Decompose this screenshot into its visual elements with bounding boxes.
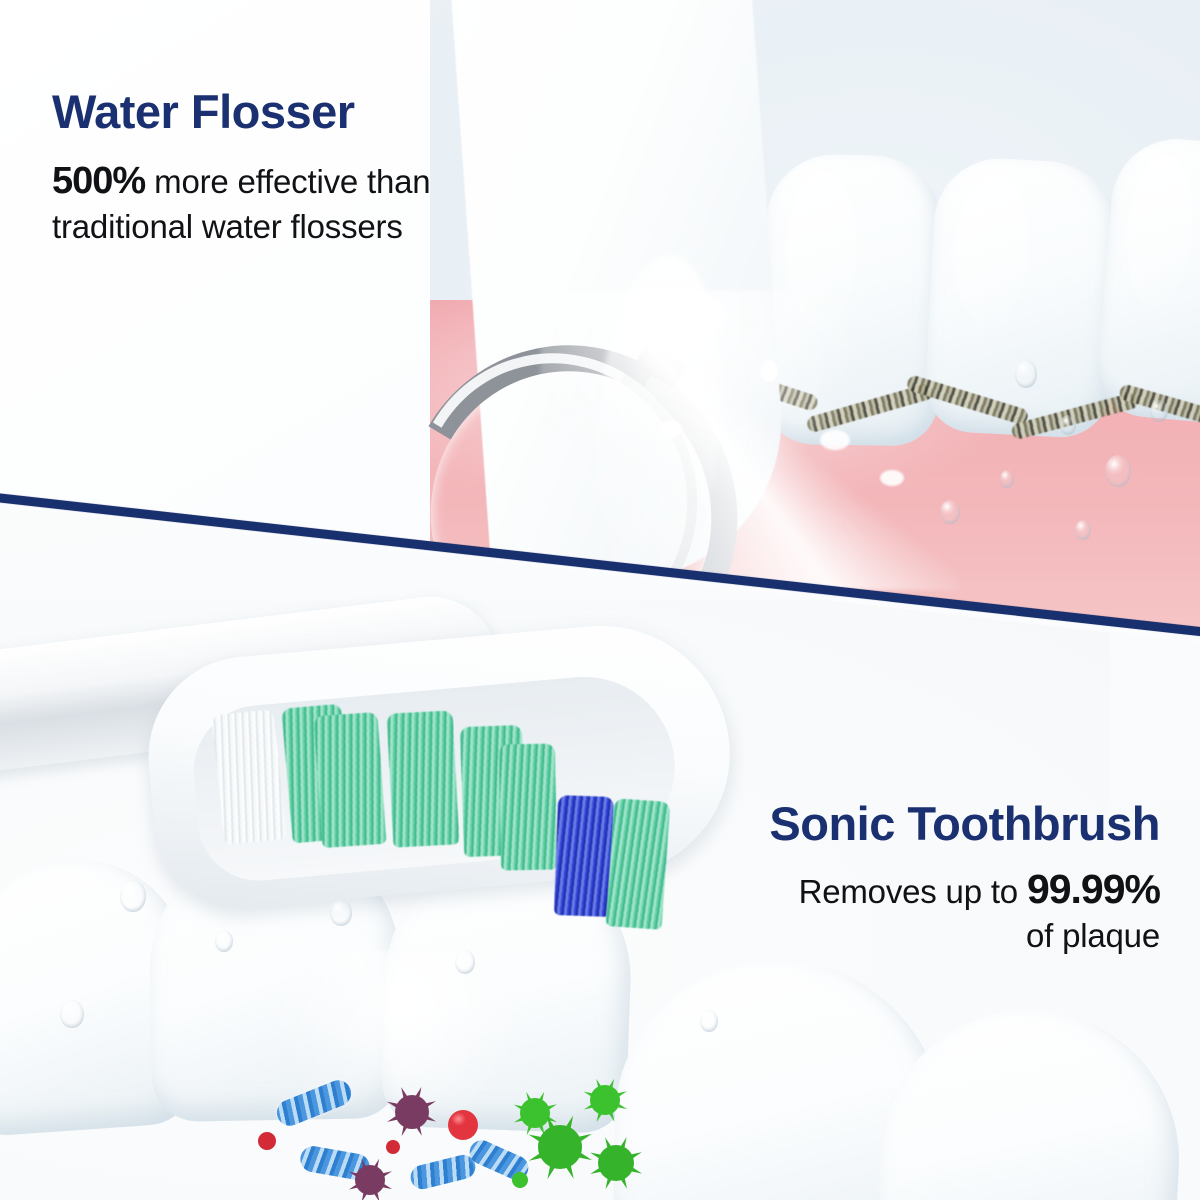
sonic-toothbrush-claim-prefix: Removes up to (799, 873, 1027, 910)
water-flosser-heading: Water Flosser (52, 88, 430, 135)
bacteria-spiky-green (520, 1098, 550, 1128)
bacteria-coccus-red (386, 1140, 400, 1154)
water-flosser-claim-rest: more effective than (145, 163, 430, 200)
bacteria-spiky-purple (355, 1165, 385, 1195)
sonic-toothbrush-text-block: Sonic Toothbrush Removes up to 99.99%of … (0, 800, 1160, 958)
toothpaste-foam-spray (250, 950, 580, 1200)
sonic-toothbrush-claim-line2: of plaque (0, 915, 1160, 957)
water-splash (660, 420, 682, 438)
water-flosser-claim-figure: 500% (52, 160, 145, 202)
bacteria-coccus-red (448, 1110, 478, 1140)
water-droplet (1075, 520, 1091, 540)
water-droplet (1150, 400, 1168, 422)
water-splash (880, 470, 904, 486)
bacteria-spiky-green (538, 1125, 582, 1169)
bacteria-spiky-green (598, 1145, 634, 1181)
sonic-toothbrush-claim: Removes up to 99.99%of plaque (0, 863, 1160, 958)
sonic-toothbrush-heading: Sonic Toothbrush (0, 800, 1160, 847)
infographic-canvas: Water Flosser 500% more effective thantr… (0, 0, 1200, 1200)
water-droplet (1060, 415, 1076, 435)
bacteria-spiky-purple (395, 1095, 429, 1129)
water-droplet (1105, 455, 1131, 487)
water-splash (820, 430, 850, 450)
bacteria-coccus-green (512, 1172, 528, 1188)
water-splash (760, 360, 778, 382)
bacteria-coccus-red (258, 1132, 276, 1150)
water-flosser-claim-line2: traditional water flossers (52, 206, 430, 248)
water-flosser-claim: 500% more effective thantraditional wate… (52, 157, 430, 248)
water-splash (700, 300, 726, 330)
water-droplet (1000, 470, 1014, 488)
sonic-toothbrush-claim-figure: 99.99% (1027, 866, 1160, 912)
water-flosser-text-block: Water Flosser 500% more effective thantr… (52, 88, 430, 248)
water-droplet (1015, 360, 1037, 388)
bacteria-spiky-green (590, 1085, 620, 1115)
water-droplet (940, 500, 960, 524)
water-droplet (60, 1000, 84, 1028)
water-droplet (700, 1010, 718, 1032)
